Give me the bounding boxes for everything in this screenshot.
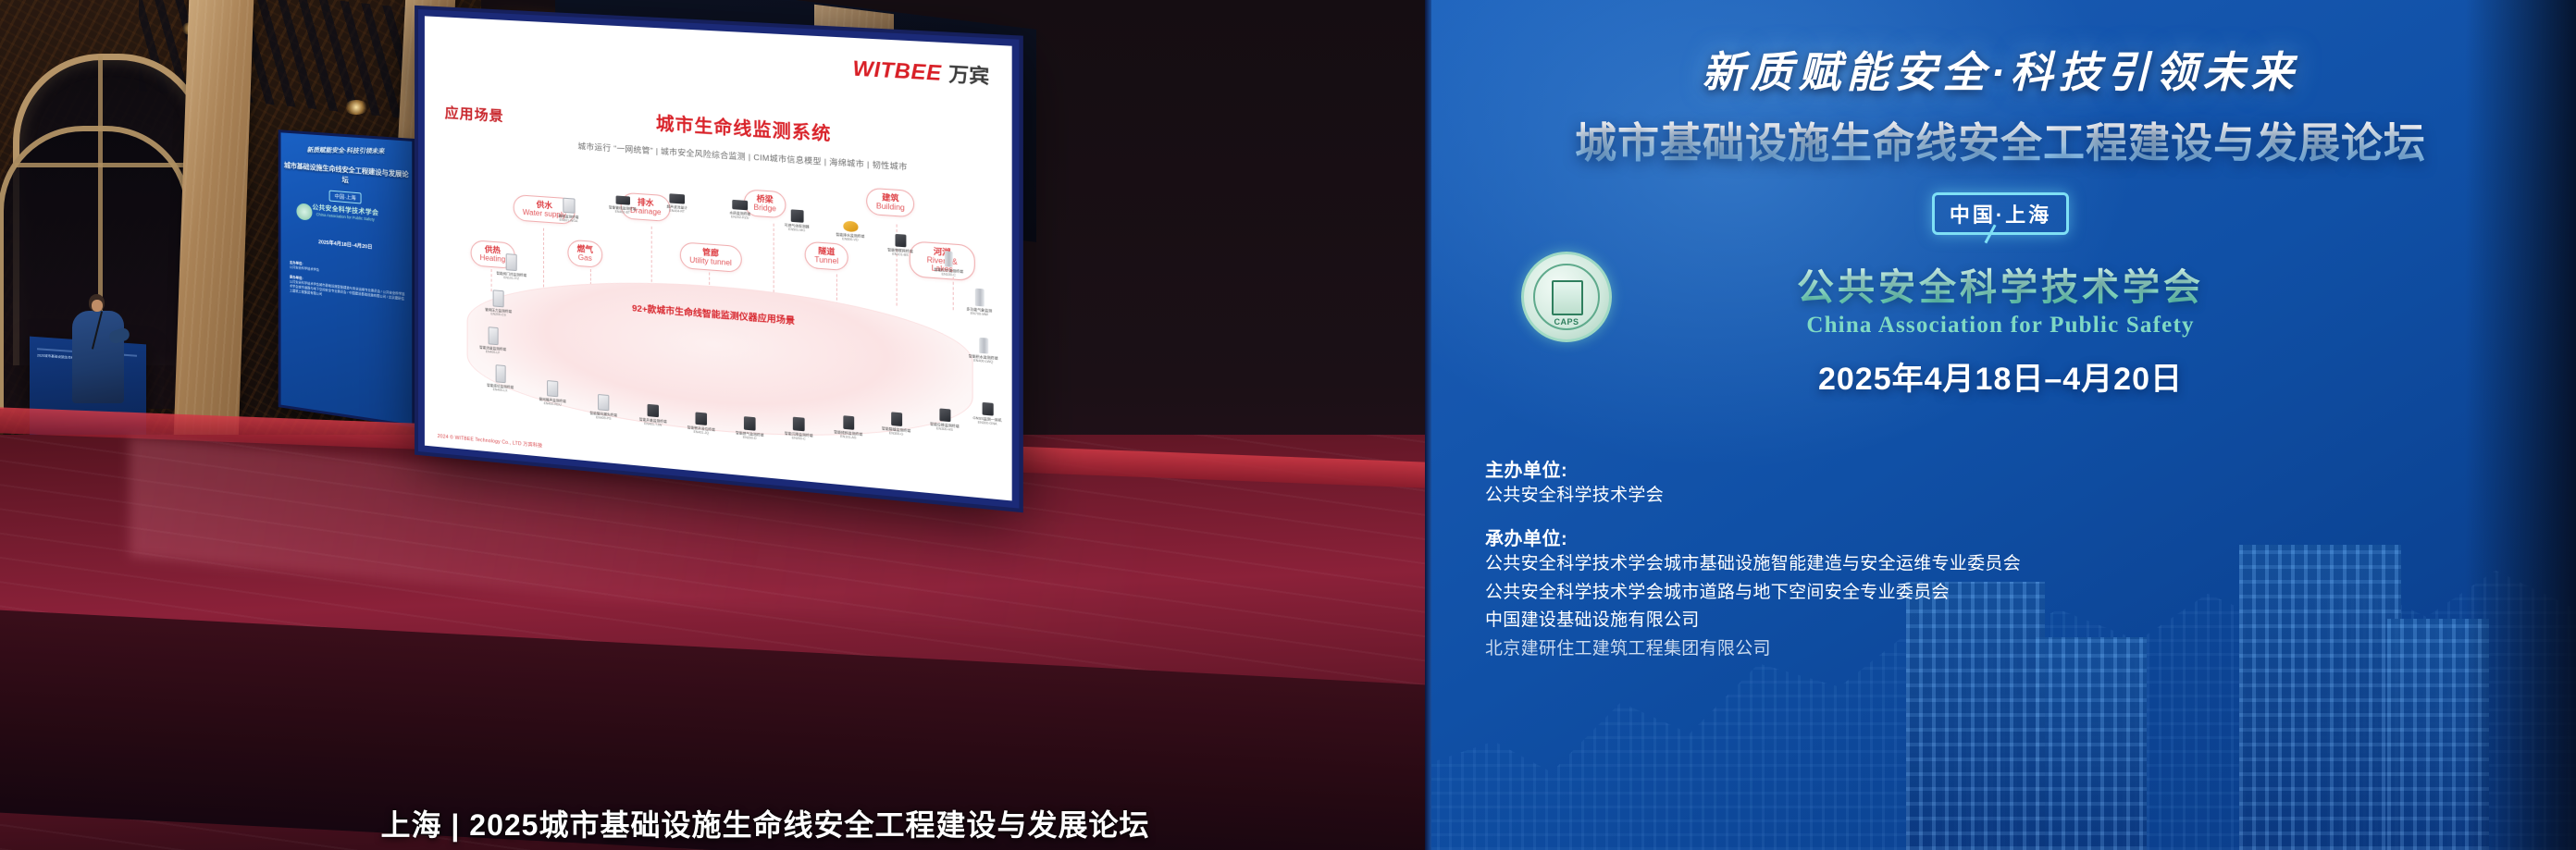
scenario-bubble-en: Utility tunnel xyxy=(689,256,732,268)
bottom-caption-bar: 上海 | 2025城市基础设施生命线安全工程建设与发展论坛 xyxy=(0,796,2576,850)
backdrop-main-title: 城市基础设施生命线安全工程建设与发展论坛 xyxy=(1425,109,2576,169)
mini-organizers: 主办单位: 公共安全科学技术学会 承办单位: 公共安全科学技术学会城市基础设施智… xyxy=(290,261,406,307)
device-icon xyxy=(563,198,575,214)
backdrop-association: 公共安全科学技术学会 China Association for Public … xyxy=(1425,257,2576,339)
device-item: 智能物联网终端 EN101-BS xyxy=(874,232,926,259)
backdrop-calligraphy-title: 新质赋能安全·科技引领未来 xyxy=(1425,39,2576,100)
witbee-logo: WITBEE 万宾 xyxy=(853,54,990,89)
backdrop-association-en: China Association for Public Safety xyxy=(1425,313,2576,339)
stage-side-display: 新质赋能安全·科技引领未来 城市基础设施生命线安全工程建设与发展论坛 中国·上海… xyxy=(281,132,413,424)
coorg-name: 公共安全科学技术学会城市道路与地下空间安全专业委员会 xyxy=(1485,579,2539,608)
device-icon xyxy=(648,404,659,417)
device-item: 智能管线监测终端 EN402-BT xyxy=(596,194,650,216)
scenario-bubble: 隧道 Tunnel xyxy=(805,241,848,272)
device-item: 智能井盖监测终端 EN401-TJW xyxy=(628,402,678,429)
device-item: 智能沉降监测终端 EN200-C xyxy=(774,415,824,443)
scenario-bubble-en: Gas xyxy=(577,253,593,263)
device-item: 水质监测终端 EN202-RZU xyxy=(712,198,767,221)
device-icon xyxy=(939,408,950,422)
device-item: 可燃气体探测器 EN501-MG xyxy=(772,208,823,234)
device-item: 智能倾斜监测终端 EN101-AS xyxy=(823,413,874,441)
arch-transom xyxy=(15,163,192,167)
device-icon xyxy=(615,195,629,204)
device-icon xyxy=(843,221,858,233)
device-icon xyxy=(488,326,498,345)
device-icon xyxy=(793,417,805,432)
device-icon xyxy=(547,380,558,397)
stage-spotlight xyxy=(344,100,368,115)
coorg-label: 承办单位: xyxy=(1485,524,2539,550)
device-icon xyxy=(744,416,756,431)
device-icon xyxy=(790,209,803,222)
device-icon xyxy=(732,200,748,210)
device-icon xyxy=(974,289,984,307)
device-icon xyxy=(945,251,953,266)
scenario-bubble: 建筑 Building xyxy=(866,188,915,218)
speaker-face xyxy=(92,300,103,312)
mini-city-tag-label: 中国·上海 xyxy=(329,191,362,204)
host-label: 主办单位: xyxy=(1485,455,2539,482)
device-item: 管网噪声监测终端 EN400-RDU xyxy=(528,378,577,408)
main-projection-screen: WITBEE 万宾 应用场景 城市生命线监测系统 城市运行 “一网统管” | 城… xyxy=(418,9,1019,509)
presentation-slide: WITBEE 万宾 应用场景 城市生命线监测系统 城市运行 “一网统管” | 城… xyxy=(425,16,1012,500)
scenario-bubble-en: Building xyxy=(876,203,905,213)
device-item: 管网监测终端 EN501-WGA xyxy=(541,196,596,225)
mini-coorgs: 公共安全科学技术学会城市基础设施智能建造与安全运维专业委员会 / 公共安全科学技… xyxy=(290,279,405,301)
device-icon xyxy=(982,402,993,416)
device-item: 智能红外遥测终端 EN100-C xyxy=(923,250,975,279)
mini-calligraphy-title: 新质赋能安全·科技引领未来 xyxy=(286,145,406,156)
device-icon xyxy=(669,193,685,203)
caption-text: 上海 | 2025城市基础设施生命线安全工程建设与发展论坛 xyxy=(381,802,1150,844)
scenario-bubble: 燃气 Gas xyxy=(567,240,602,269)
device-icon xyxy=(891,412,902,426)
device-icon xyxy=(495,364,505,383)
device-item: 智能管网漏失终端 EN409-PS xyxy=(579,392,628,423)
device-item: 智能阀门井监测终端 EN101-IYZ xyxy=(488,253,536,283)
witbee-logo-cn: 万宾 xyxy=(948,58,989,89)
slide-footer-copyright: 2024 © WITBEE Technology Co., LTD 万宾科技 xyxy=(438,433,543,450)
backdrop-organizers: 主办单位: 公共安全科学技术学会 承办单位: 公共安全科学技术学会城市基础设施智… xyxy=(1485,442,2539,664)
device-icon xyxy=(843,415,854,430)
bubble-connector xyxy=(774,224,774,302)
device-icon xyxy=(979,338,988,354)
device-item: 智能排水监测终端 EN600-VD xyxy=(824,219,876,243)
device-icon xyxy=(598,394,609,411)
mini-hosts: 公共安全科学技术学会 xyxy=(290,265,319,272)
scenario-bubble: 管廊 Utility tunnel xyxy=(680,241,742,273)
device-item: 智能液位监测终端 EN400-LX xyxy=(477,363,525,394)
device-item: 多功能气象监测 EN700-MW xyxy=(953,287,1006,318)
device-item: GNSS监测一体机 EN300-GNA xyxy=(960,400,1011,428)
device-item: 智能燃气监测终端 EN200-D xyxy=(724,414,775,442)
backdrop-association-cn: 公共安全科学技术学会 xyxy=(1425,257,2576,311)
scenario-bubble-en: Tunnel xyxy=(814,255,838,265)
device-icon xyxy=(506,253,517,271)
device-item: 智能流量监测终端 EN400-LF xyxy=(469,325,517,356)
mini-date: 2025年4月18日–4月20日 xyxy=(281,234,413,254)
device-item: 智能积水监测终端 EN400-LWQ xyxy=(957,336,1009,366)
device-item: 智能窨井液位终端 EN401-JQ xyxy=(676,411,726,437)
backdrop-date: 2025年4月18日–4月20日 xyxy=(1425,353,2576,399)
coorg-name: 公共安全科学技术学会城市基础设施智能建造与安全运维专业委员会 xyxy=(1485,550,2539,579)
device-item: 管网压力监测终端 EN200-CS xyxy=(475,289,523,319)
coorg-name: 北京建研住工建筑工程集团有限公司 xyxy=(1485,635,2539,664)
device-icon xyxy=(895,234,906,247)
event-photo-screenshot: 新质赋能安全·科技引领未来 城市基础设施生命线安全工程建设与发展论坛 中国·上海… xyxy=(0,0,2576,850)
coorg-name: 中国建设基础设施有限公司 xyxy=(1485,607,2539,635)
bubble-connector xyxy=(836,274,837,304)
host-name: 公共安全科学技术学会 xyxy=(1485,482,2539,511)
device-item: 超声波流量计 EN404-RT xyxy=(651,192,703,216)
device-icon xyxy=(695,412,707,425)
device-item: 智能裂缝监测终端 EN300-G xyxy=(870,410,922,438)
bubble-connector xyxy=(543,228,544,292)
event-backdrop-panel: 新质赋能安全·科技引领未来 城市基础设施生命线安全工程建设与发展论坛 中国·上海… xyxy=(1425,0,2576,850)
slide-scene-tag: 应用场景 xyxy=(445,103,504,126)
device-icon xyxy=(493,289,504,307)
witbee-logo-en: WITBEE xyxy=(853,56,942,86)
